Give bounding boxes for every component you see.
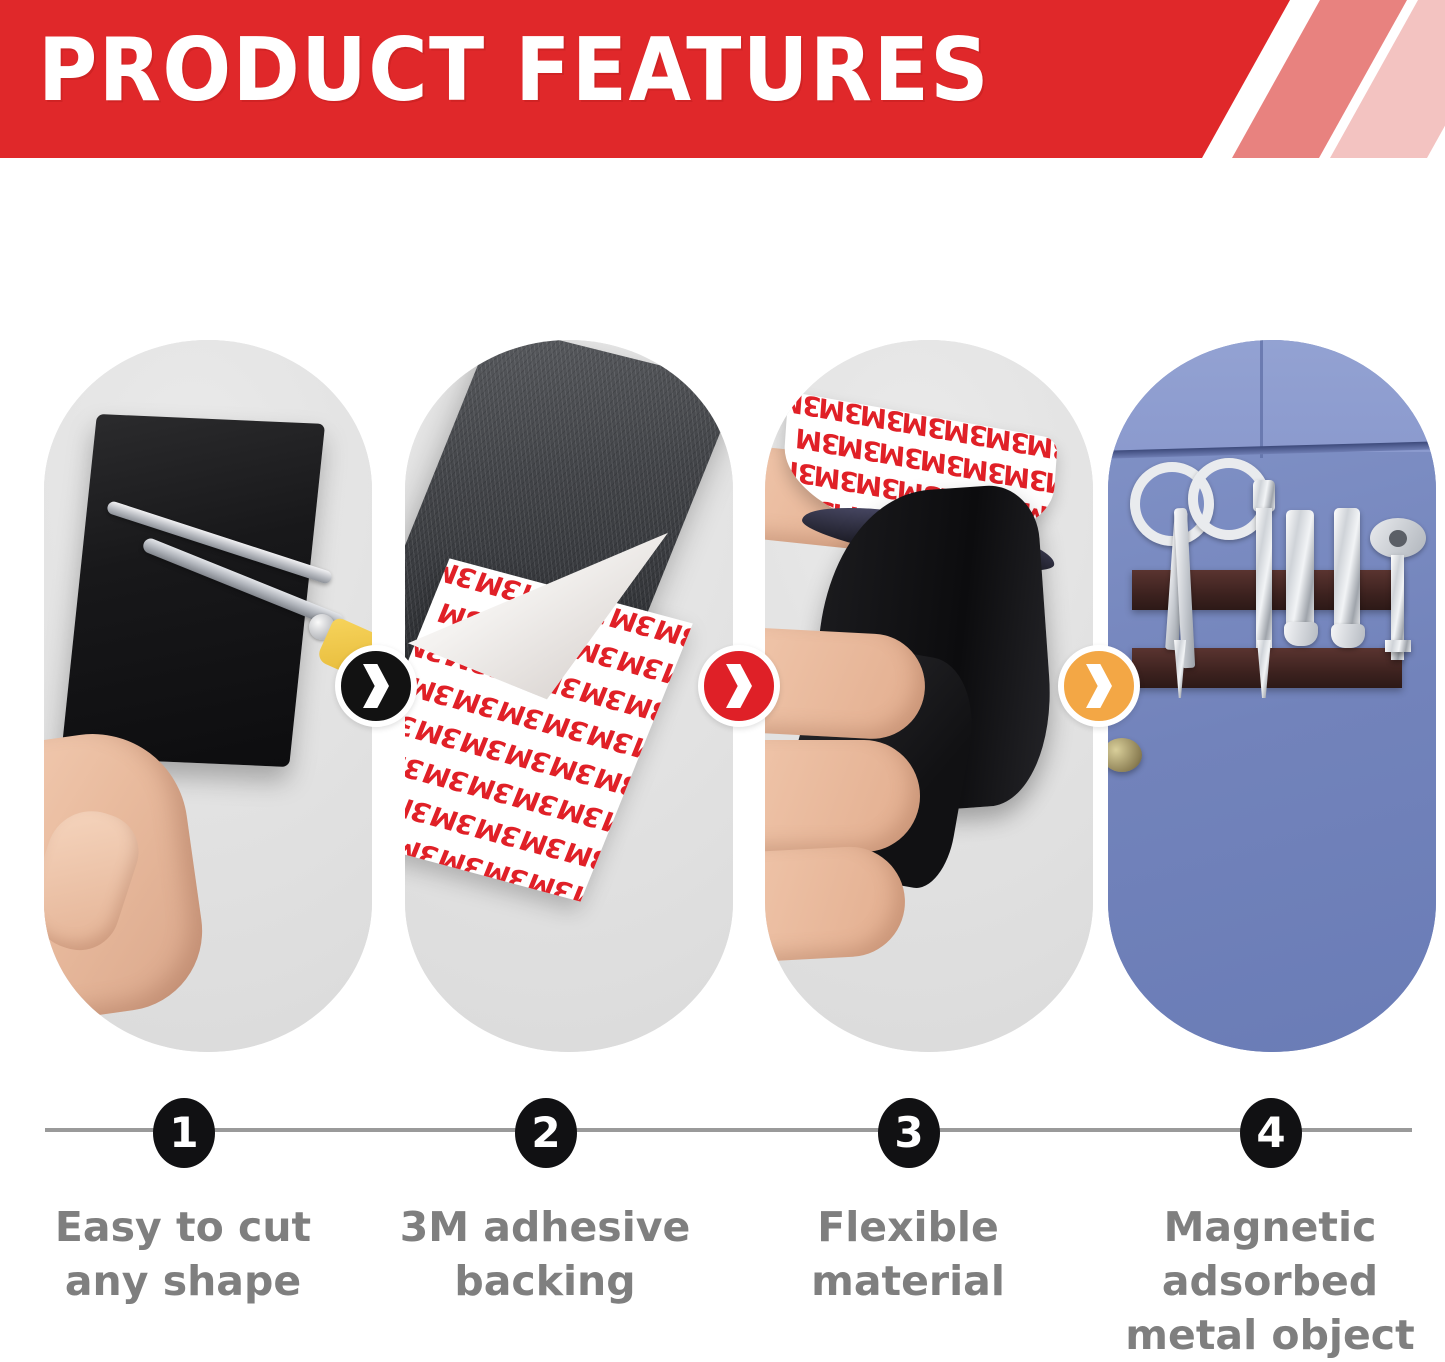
3m-logo: 3M xyxy=(547,752,600,788)
chevron-right-icon xyxy=(698,645,780,727)
3m-logo: 3M xyxy=(510,783,563,819)
key-hole xyxy=(1389,530,1407,547)
header-banner: PRODUCT FEATURES xyxy=(0,0,1445,160)
nail-clipper-1-body xyxy=(1286,510,1314,630)
3m-logo: 3M xyxy=(855,468,900,503)
panel-3m-adhesive: 3M3M3M3M3M3M3M3M3M3M3M3M3M3M3M3M3M3M3M3M… xyxy=(405,340,733,1052)
step-caption: Flexible material xyxy=(728,1200,1088,1308)
nail-clipper-2-head xyxy=(1331,624,1365,648)
3m-logo: 3M xyxy=(427,802,480,838)
3m-logo: 3M xyxy=(450,684,503,720)
3m-logo: 3M xyxy=(584,720,637,756)
3m-logo: 3M xyxy=(962,453,1007,488)
3m-logo: 3M xyxy=(413,716,466,752)
step-number-badge: 3 xyxy=(878,1098,940,1168)
step-caption: 3M adhesive backing xyxy=(365,1200,725,1308)
chevron-glyph xyxy=(726,664,752,708)
timeline-rule xyxy=(45,1128,1412,1132)
chevron-right-icon xyxy=(335,645,417,727)
page-title: PRODUCT FEATURES xyxy=(38,22,990,118)
3m-logo: 3M xyxy=(539,708,592,744)
step-number-badge: 1 xyxy=(153,1098,215,1168)
3m-logo: 3M xyxy=(457,728,510,764)
panel-flexible-material: 3M3M3M3M3M3M3M3M3M3M3M3M3M3M3M3M3M3M3M3M… xyxy=(765,340,1093,1052)
3m-logo: 3M xyxy=(814,461,859,496)
step-timeline: 1 Easy to cut any shape 2 3M adhesive ba… xyxy=(0,1060,1445,1359)
3m-logo: 3M xyxy=(920,445,965,480)
3m-logo: 3M xyxy=(465,771,518,807)
3m-logo: 3M xyxy=(837,431,882,466)
chevron-glyph xyxy=(1086,664,1112,708)
3m-logo: 3M xyxy=(420,759,473,795)
step-number-badge: 4 xyxy=(1240,1098,1302,1168)
finger xyxy=(765,740,920,852)
nail-file-body xyxy=(1256,508,1272,648)
panel-magnetic-adsorbed xyxy=(1108,340,1436,1052)
step-caption: Magnetic adsorbed metal object xyxy=(1090,1200,1445,1362)
3m-logo: 3M xyxy=(472,814,525,850)
3m-logo: 3M xyxy=(879,438,924,473)
nail-clipper-2-body xyxy=(1334,508,1360,632)
step-number-badge: 2 xyxy=(515,1098,577,1168)
3m-logo: 3M xyxy=(795,423,840,458)
3m-logo: 3M xyxy=(495,696,548,732)
3m-logo: 3M xyxy=(780,453,817,488)
3m-logo: 3M xyxy=(614,646,667,682)
3m-logo: 3M xyxy=(517,826,570,862)
3m-logo: 3M xyxy=(554,795,607,831)
key-bit xyxy=(1385,640,1411,652)
chevron-glyph xyxy=(363,664,389,708)
chevron-right-icon xyxy=(1058,645,1140,727)
cabinet-top xyxy=(1108,340,1436,452)
3m-logo: 3M xyxy=(1003,460,1048,495)
panel-easy-to-cut xyxy=(44,340,372,1052)
step-caption: Easy to cut any shape xyxy=(3,1200,363,1308)
3m-logo: 3M xyxy=(577,677,630,713)
cabinet-seam-vertical xyxy=(1260,340,1263,458)
3m-logo: 3M xyxy=(502,740,555,776)
black-magnet-sheet xyxy=(61,414,325,767)
nail-clipper-1-head xyxy=(1284,622,1318,646)
